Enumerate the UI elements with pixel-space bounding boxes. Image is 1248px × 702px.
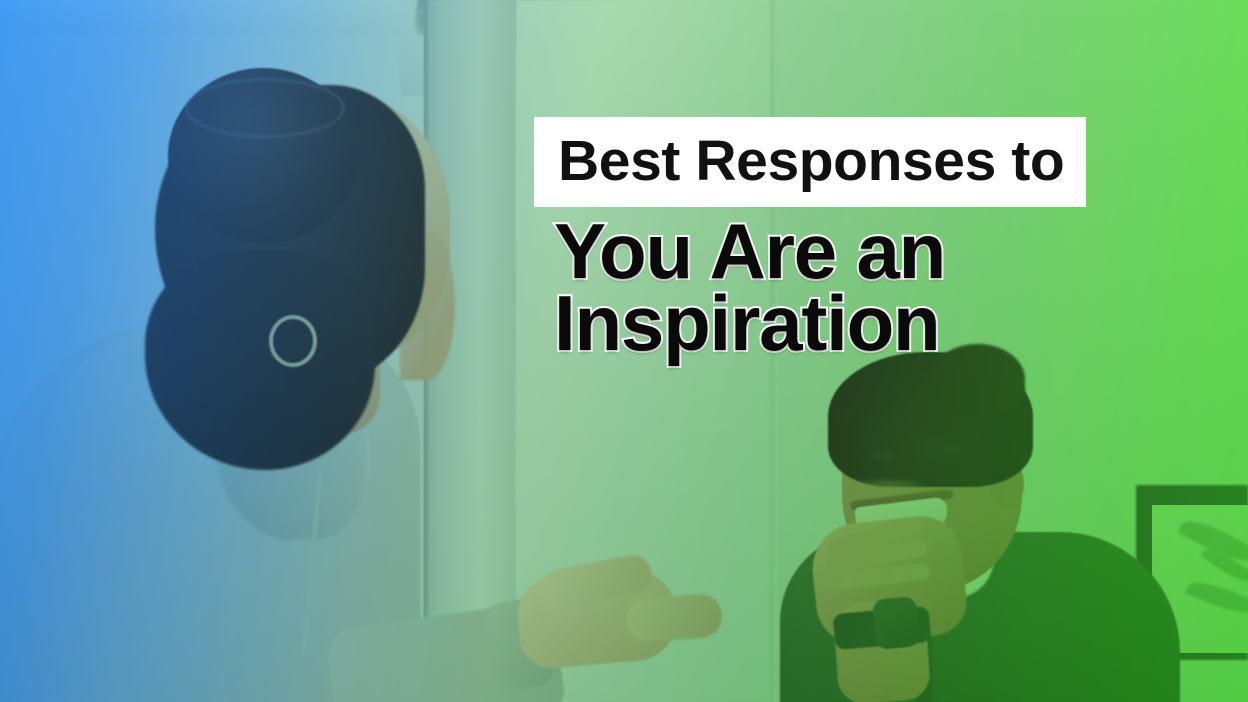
thumbnail-canvas: Best Responses to You Are an Inspiration <box>0 0 1248 702</box>
headline-block: Best Responses to You Are an Inspiration <box>534 117 1194 362</box>
headline-line-3: Inspiration <box>534 285 1194 361</box>
headline-line-1: Best Responses to <box>534 117 1086 207</box>
headline-line-2: You Are an <box>534 213 1194 289</box>
